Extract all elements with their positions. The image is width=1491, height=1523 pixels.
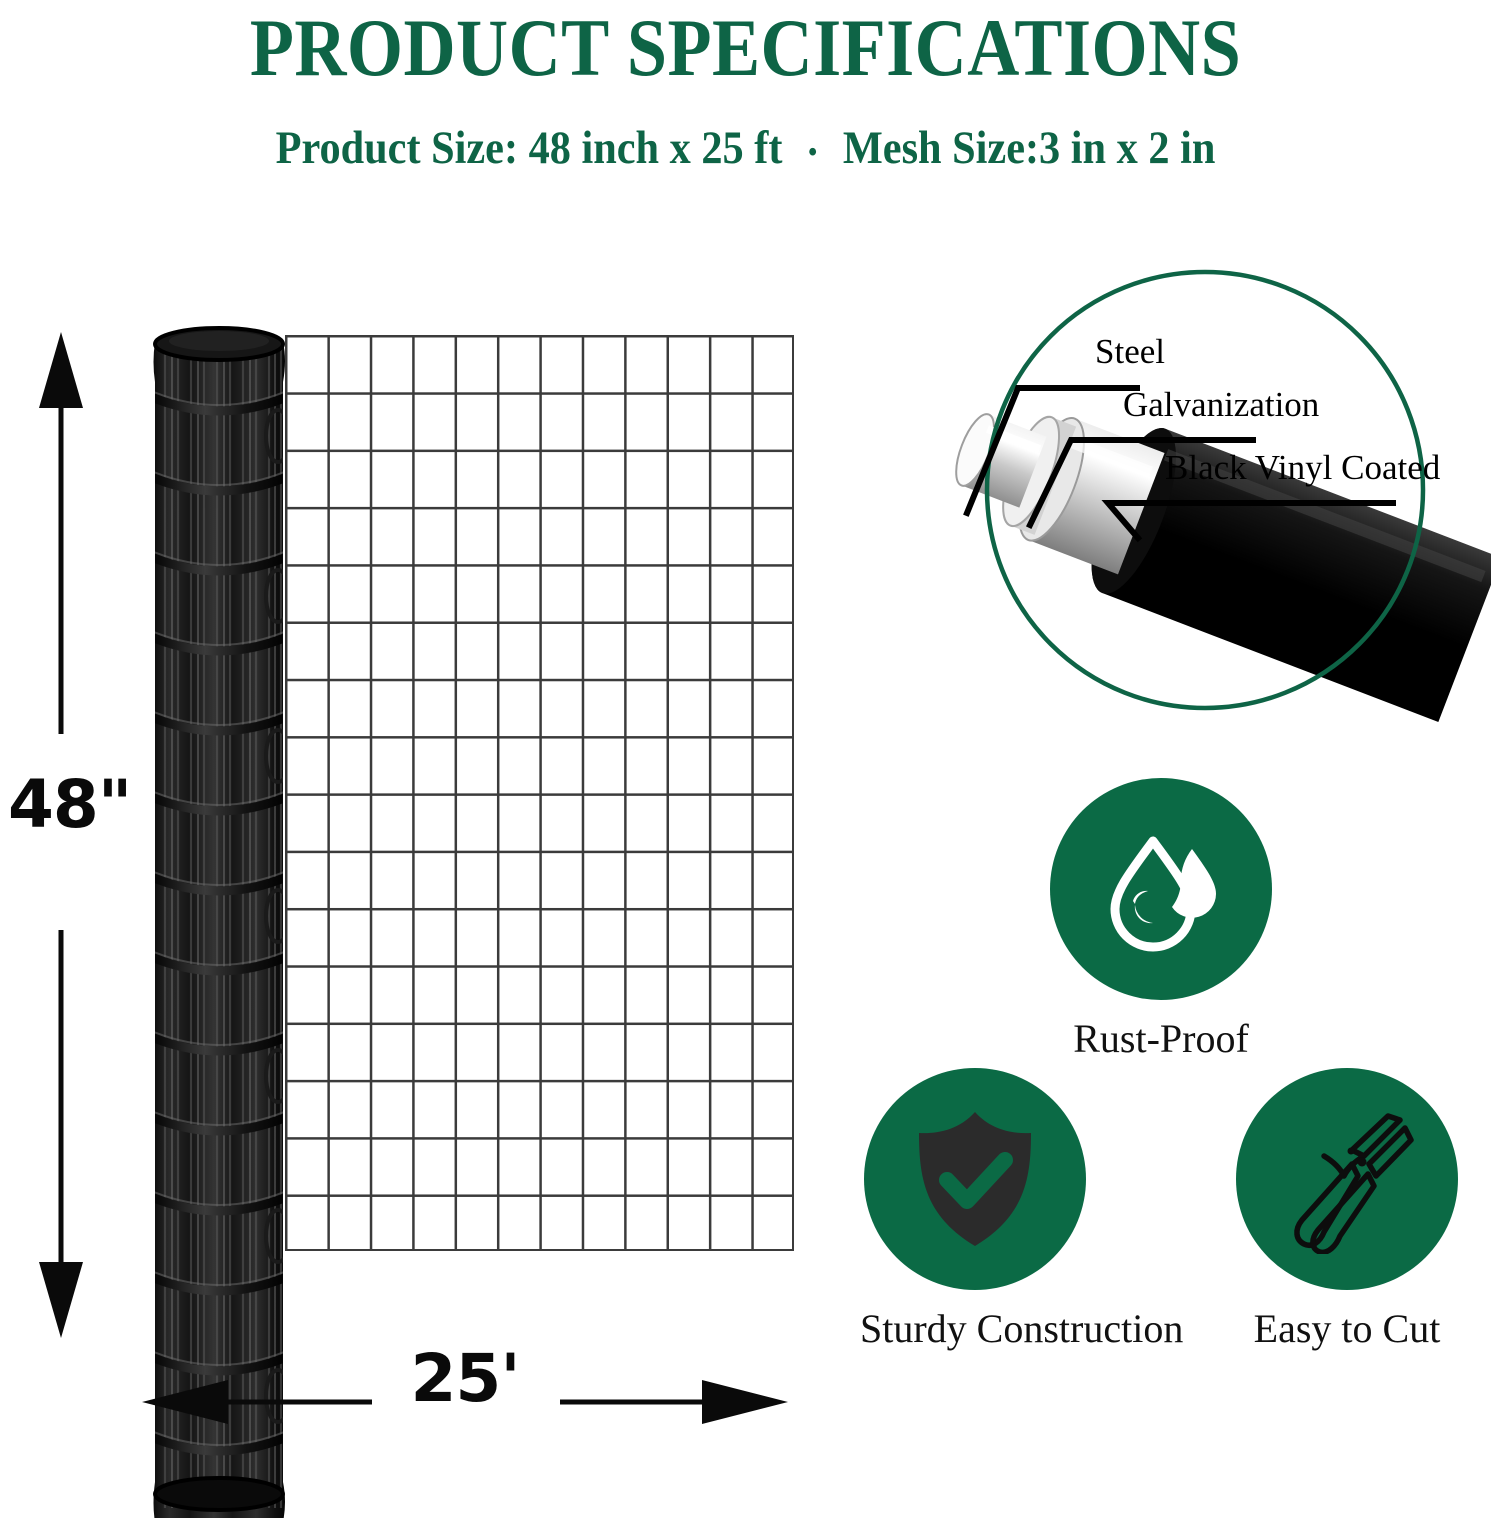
fence-roll-icon [145,308,293,1518]
feature-badge-rust-proof: Rust-Proof [1046,778,1276,1064]
sturdy-construction-label: Sturdy Construction [860,1304,1090,1354]
height-dimension-label: 48" [8,770,128,840]
easy-to-cut-label: Easy to Cut [1232,1304,1462,1354]
label-steel: Steel [1095,332,1165,372]
feature-badge-sturdy-construction: Sturdy Construction [860,1068,1090,1354]
wire-mesh-grid [285,335,794,1251]
feature-badges: Rust-Proof Sturdy Construction [860,770,1491,1428]
feature-badge-easy-to-cut: Easy to Cut [1232,1068,1462,1354]
easy-to-cut-circle [1236,1068,1458,1290]
width-dimension: 25' [140,1340,790,1428]
fence-roll [145,308,293,1518]
width-dimension-label: 25' [385,1344,545,1414]
pliers-icon [1272,1104,1422,1254]
label-black-vinyl-coated: Black Vinyl Coated [1165,448,1440,488]
shield-check-icon [905,1104,1045,1254]
wire-construction-callout: Steel Galvanization Black Vinyl Coated [940,225,1491,765]
product-size-label: Product Size: 48 inch x 25 ft [276,122,783,174]
height-dimension: 48" [14,330,124,1340]
sturdy-construction-circle [864,1068,1086,1290]
separator-dot [793,122,832,182]
label-galvanization: Galvanization [1123,385,1319,425]
wire-callout-diagram [940,225,1491,765]
product-illustration: 48" [0,200,860,1428]
water-droplet-icon [1091,819,1231,959]
rust-proof-label: Rust-Proof [1046,1014,1276,1064]
mesh-size-label: Mesh Size:3 in x 2 in [843,122,1215,174]
page-title: PRODUCT SPECIFICATIONS [89,0,1401,98]
spec-subtitle: Product Size: 48 inch x 25 ft Mesh Size:… [75,118,1417,182]
header: PRODUCT SPECIFICATIONS Product Size: 48 … [0,0,1491,200]
rust-proof-circle [1050,778,1272,1000]
